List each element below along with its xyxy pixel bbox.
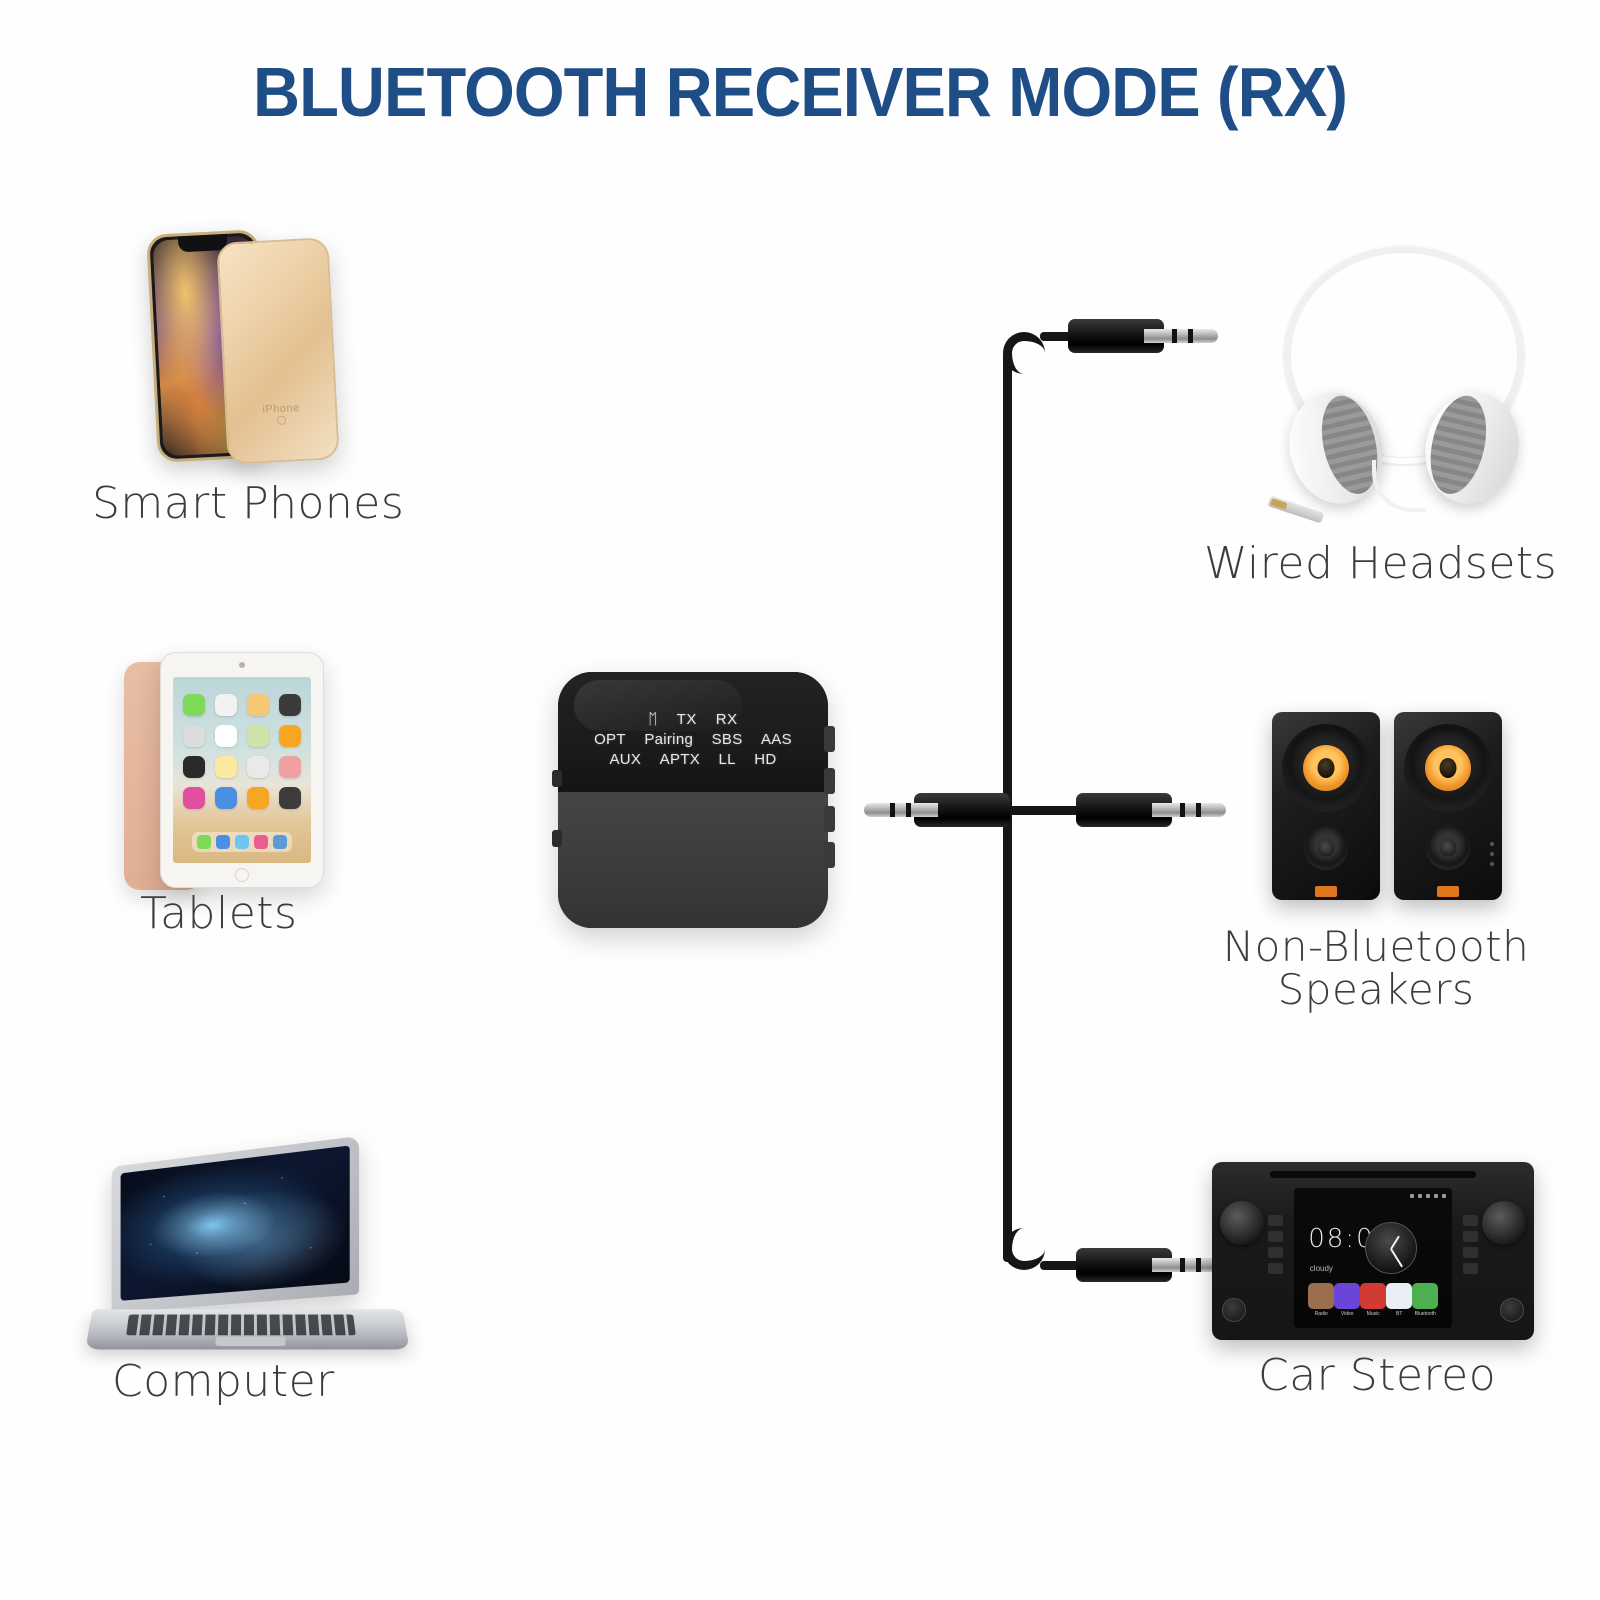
stereo-buttons-left[interactable]	[1268, 1215, 1283, 1274]
speaker-logo	[1437, 886, 1459, 897]
ipad-dock-icon-1[interactable]	[197, 835, 211, 849]
ipad-home-button	[235, 868, 249, 882]
ipad-app-icon-5[interactable]	[183, 725, 205, 747]
stereo-app-bluetooth[interactable]: Bluetooth	[1412, 1283, 1438, 1317]
adapter-left-button-bottom[interactable]	[552, 830, 562, 847]
stereo-app-icon-video	[1334, 1283, 1360, 1309]
speaker-tweeter	[1426, 826, 1470, 870]
bluetooth-receiver-diagram: BLUETOOTH RECEIVER MODE (RX) iPhone Smar…	[0, 0, 1600, 1600]
ipad-app-icon-13[interactable]	[183, 787, 205, 809]
adapter-right-port-1[interactable]	[824, 726, 835, 752]
ipad-screen	[173, 677, 311, 863]
plug-tip	[1152, 803, 1226, 817]
cable-corner-top	[1003, 332, 1045, 374]
adapter-right-port-2[interactable]	[824, 768, 835, 794]
speaker-cone	[1425, 745, 1471, 791]
plug-speakers-end	[1076, 793, 1226, 827]
stereo-app-label: Video	[1334, 1311, 1360, 1317]
ipad-app-icon-7[interactable]	[247, 725, 269, 747]
stereo-app-label: Bluetooth	[1412, 1311, 1438, 1317]
stereo-app-icon-bluetooth	[1412, 1283, 1438, 1309]
stereo-app-video[interactable]: Video	[1334, 1283, 1360, 1317]
speaker-left	[1272, 712, 1380, 900]
speaker-logo	[1315, 886, 1337, 897]
adapter-label-row-2: OPT Pairing SBS AAS	[558, 730, 828, 750]
laptop-keyboard	[126, 1315, 356, 1336]
volume-knob-left[interactable]	[1220, 1201, 1264, 1245]
plug-band-2	[906, 803, 911, 817]
iphone-back: iPhone	[216, 237, 339, 465]
headphone-jack	[1268, 496, 1325, 524]
ipad-app-grid	[183, 694, 302, 810]
plug-tip	[1144, 329, 1218, 343]
adapter-label-hd: HD	[754, 750, 776, 770]
ipad-app-icon-2[interactable]	[215, 694, 237, 716]
speaker-cone	[1303, 745, 1349, 791]
ipad-app-icon-4[interactable]	[279, 694, 301, 716]
adapter-label-pairing: Pairing	[644, 730, 693, 750]
adapter-label-rx: RX	[716, 710, 738, 730]
adapter-label-row-3: AUX APTX LL HD	[558, 750, 828, 770]
stereo-app-label: BT	[1386, 1311, 1412, 1317]
cable-corner-bottom	[1003, 1228, 1045, 1270]
ipad-app-icon-10[interactable]	[215, 756, 237, 778]
laptop-base	[85, 1310, 409, 1350]
ipad-dock-icon-5[interactable]	[273, 835, 287, 849]
ipad-app-icon-3[interactable]	[247, 694, 269, 716]
ipad-app-icon-1[interactable]	[183, 694, 205, 716]
stereo-app-icon-bt	[1386, 1283, 1412, 1309]
stereo-app-label: Music	[1360, 1311, 1386, 1317]
bluetooth-icon: ᛖ	[648, 710, 658, 730]
speaker-tweeter	[1304, 826, 1348, 870]
headphone-wire	[1372, 460, 1426, 512]
adapter-label-row-1: ᛖ TX RX	[558, 710, 828, 730]
stereo-app-music[interactable]: Music	[1360, 1283, 1386, 1317]
plug-car-stereo-end	[1076, 1248, 1226, 1282]
laptop-lid	[111, 1136, 359, 1313]
adapter-labels: ᛖ TX RX OPT Pairing SBS AAS AUX APTX LL …	[558, 710, 828, 769]
bluetooth-adapter[interactable]: ᛖ TX RX OPT Pairing SBS AAS AUX APTX LL …	[558, 672, 828, 928]
plug-tip	[864, 803, 938, 817]
ipad-dock-icon-4[interactable]	[254, 835, 268, 849]
stereo-app-icon-radio	[1308, 1283, 1334, 1309]
car-stereo: 08:00 cloudy RadioVideoMusicBTBluetooth	[1212, 1162, 1534, 1340]
iphone-brand-text: iPhone	[262, 402, 300, 416]
stereo-app-bt[interactable]: BT	[1386, 1283, 1412, 1317]
stereo-app-row[interactable]: RadioVideoMusicBTBluetooth	[1308, 1283, 1438, 1317]
tablets-label: Tablets	[140, 888, 297, 939]
ipad-app-icon-12[interactable]	[279, 756, 301, 778]
ipad-front	[160, 652, 324, 888]
adapter-label-sbs: SBS	[712, 730, 743, 750]
disc-slot[interactable]	[1270, 1171, 1476, 1178]
stereo-weather-text: cloudy	[1310, 1264, 1333, 1273]
iphone-home-ring	[277, 416, 286, 425]
adapter-right-port-4[interactable]	[824, 842, 835, 868]
ipad-dock-icon-2[interactable]	[216, 835, 230, 849]
speaker-pair	[1272, 712, 1502, 900]
stereo-home-button[interactable]	[1222, 1298, 1246, 1322]
plug-headset-end	[1068, 319, 1218, 353]
clock-minute-hand	[1390, 1248, 1403, 1267]
ipad-app-icon-9[interactable]	[183, 756, 205, 778]
wired-headsets-label: Wired Headsets	[1204, 538, 1557, 589]
speaker-control-leds	[1490, 842, 1494, 866]
headphones	[1254, 246, 1554, 526]
ipad-dock-icon-3[interactable]	[235, 835, 249, 849]
ipad-camera	[239, 662, 245, 668]
laptop-screen	[120, 1145, 350, 1301]
stereo-status-bar	[1300, 1191, 1446, 1200]
clock-hour-hand	[1390, 1235, 1400, 1249]
stereo-menu-button[interactable]	[1500, 1298, 1524, 1322]
adapter-label-aux: AUX	[609, 750, 641, 770]
ipad-app-icon-16[interactable]	[279, 787, 301, 809]
ipad-app-icon-8[interactable]	[279, 725, 301, 747]
laptop	[82, 1152, 412, 1358]
page-title: BLUETOOTH RECEIVER MODE (RX)	[56, 52, 1544, 132]
plug-band-1	[1180, 1258, 1185, 1272]
speaker-woofer	[1404, 724, 1492, 812]
adapter-left-button-top[interactable]	[552, 770, 562, 787]
ipad-app-icon-15[interactable]	[247, 787, 269, 809]
speaker-right	[1394, 712, 1502, 900]
adapter-right-port-3[interactable]	[824, 806, 835, 832]
car-stereo-label: Car Stereo	[1258, 1350, 1496, 1401]
speaker-woofer	[1282, 724, 1370, 812]
plug-band-2	[1188, 329, 1193, 343]
stereo-app-label: Radio	[1308, 1311, 1334, 1317]
ipad-app-icon-14[interactable]	[215, 787, 237, 809]
plug-band-1	[1172, 329, 1177, 343]
ipad-dock	[192, 832, 291, 852]
plug-band-1	[890, 803, 895, 817]
adapter-label-aas: AAS	[761, 730, 792, 750]
ipad-app-icon-11[interactable]	[247, 756, 269, 778]
plug-band-1	[1180, 803, 1185, 817]
adapter-bottom-face	[558, 792, 828, 928]
speakers-label: Non-Bluetooth Speakers	[1206, 926, 1546, 1012]
plug-adapter-end	[864, 793, 1010, 827]
speakers-label-line2: Speakers	[1278, 965, 1475, 1014]
ipad-app-icon-6[interactable]	[215, 725, 237, 747]
stereo-screen[interactable]: 08:00 cloudy RadioVideoMusicBTBluetooth	[1294, 1188, 1452, 1328]
adapter-label-aptx: APTX	[660, 750, 700, 770]
laptop-trackpad	[215, 1337, 286, 1346]
speakers-label-line1: Non-Bluetooth	[1223, 922, 1529, 971]
tune-knob-right[interactable]	[1482, 1201, 1526, 1245]
stereo-buttons-right[interactable]	[1463, 1215, 1478, 1274]
adapter-label-ll: LL	[719, 750, 736, 770]
adapter-label-opt: OPT	[594, 730, 626, 750]
plug-band-2	[1196, 1258, 1201, 1272]
speaker-dome	[1318, 758, 1335, 778]
stereo-analog-clock	[1365, 1222, 1417, 1274]
adapter-body: ᛖ TX RX OPT Pairing SBS AAS AUX APTX LL …	[558, 672, 828, 928]
computer-label: Computer	[112, 1356, 335, 1407]
speaker-dome	[1440, 758, 1457, 778]
smart-phones-label: Smart Phones	[92, 478, 404, 529]
stereo-app-radio[interactable]: Radio	[1308, 1283, 1334, 1317]
stereo-app-icon-music	[1360, 1283, 1386, 1309]
adapter-label-tx: TX	[677, 710, 697, 730]
plug-band-2	[1196, 803, 1201, 817]
